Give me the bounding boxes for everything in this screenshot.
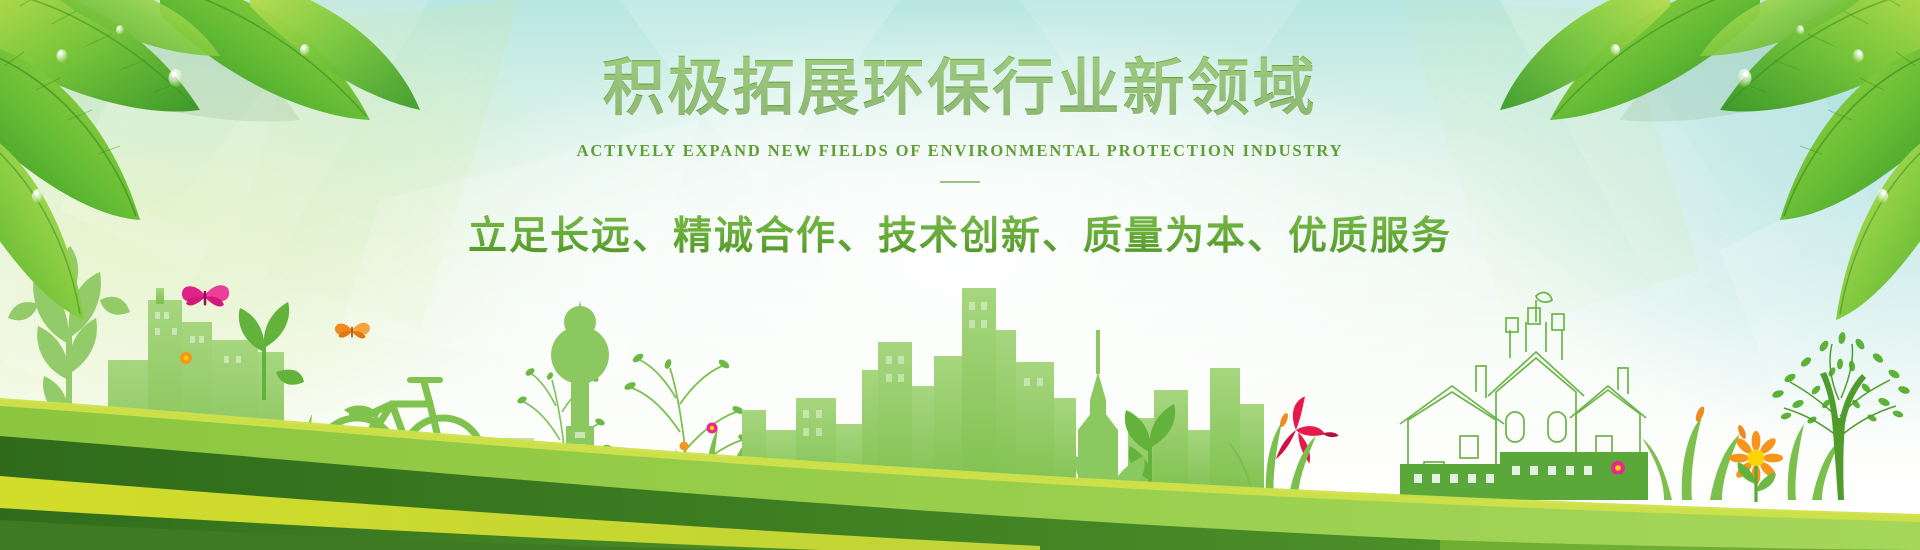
- leaf-cluster-icon-top-right: [0, 0, 1920, 550]
- eco-banner: 积极拓展环保行业新领域 ACTIVELY EXPAND NEW FIELDS O…: [0, 0, 1920, 550]
